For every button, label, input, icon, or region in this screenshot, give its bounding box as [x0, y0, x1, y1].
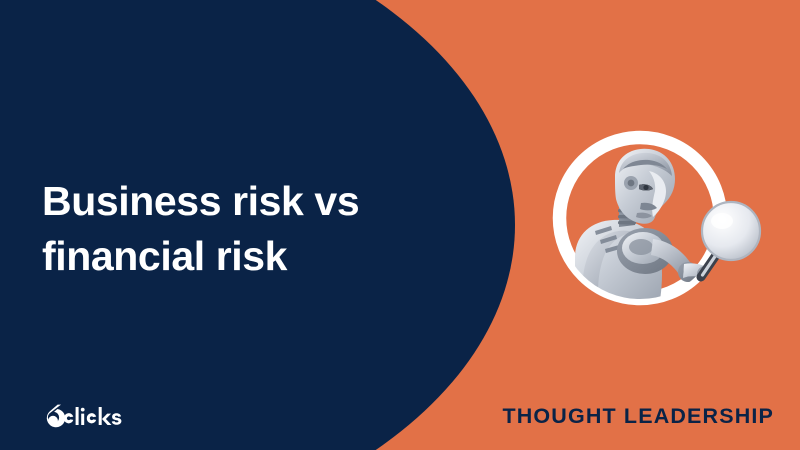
category-label: THOUGHT LEADERSHIP — [502, 404, 774, 429]
logo-six-mark — [47, 405, 65, 428]
title-card: Business risk vs financial risk — [0, 0, 800, 450]
page-title-line-1: Business risk vs — [42, 174, 432, 229]
logo-6clicks[interactable]: 6clicks — [42, 404, 138, 430]
logo-wordmark — [64, 407, 122, 425]
robot-illustration — [553, 131, 729, 307]
page-title: Business risk vs financial risk — [42, 174, 432, 283]
page-title-line-2: financial risk — [42, 229, 432, 284]
